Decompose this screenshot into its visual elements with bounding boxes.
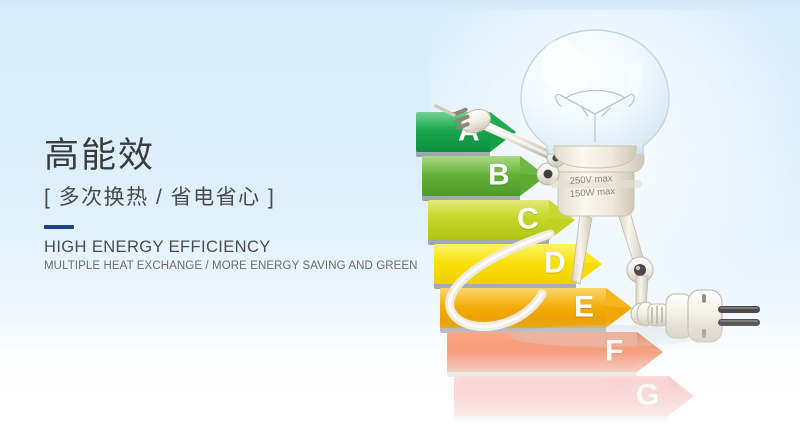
- chart-reflection: [462, 378, 677, 418]
- promo-banner: A B C: [0, 0, 800, 438]
- headline-english: HIGH ENERGY EFFICIENCY: [44, 238, 434, 257]
- chart-reflection-tip: [603, 378, 629, 410]
- subtitle-english: MULTIPLE HEAT EXCHANGE / MORE ENERGY SAV…: [44, 260, 434, 272]
- banner-text-block: 高能效 [ 多次换热 / 省电省心 ] HIGH ENERGY EFFICIEN…: [44, 136, 434, 272]
- lamp-hand: [436, 105, 494, 137]
- accent-underline: [44, 225, 74, 229]
- plug-cord-grip: [648, 304, 668, 326]
- subtitle-chinese: [ 多次换热 / 省电省心 ]: [44, 181, 434, 211]
- page-title: 高能效: [44, 136, 434, 175]
- lamp-robot-figure: 250V max 150W max: [430, 18, 760, 358]
